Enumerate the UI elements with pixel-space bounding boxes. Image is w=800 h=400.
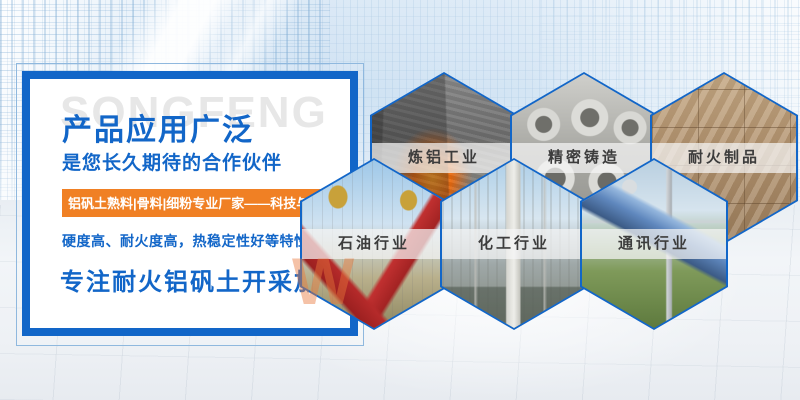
hexagon-grid: 炼铝工业 精密铸造 耐火制品 石油行业 (0, 0, 800, 400)
hex-tile-petroleum[interactable]: 石油行业 (300, 158, 448, 330)
hex-label: 化工行业 (442, 229, 586, 259)
hex-photo-frame: 化工行业 (442, 160, 586, 328)
hex-photo-frame: 石油行业 (302, 160, 446, 328)
promo-banner: SONGFENG 产品应用广泛 是您长久期待的合作伙伴 铝矾土熟料|骨料|细粉专… (0, 0, 800, 400)
hex-label: 通讯行业 (582, 229, 726, 259)
hex-photo-frame: 通讯行业 (582, 160, 726, 328)
hex-tile-chemical[interactable]: 化工行业 (440, 158, 588, 330)
hex-tile-communication[interactable]: 通讯行业 (580, 158, 728, 330)
hex-label: 石油行业 (302, 229, 446, 259)
